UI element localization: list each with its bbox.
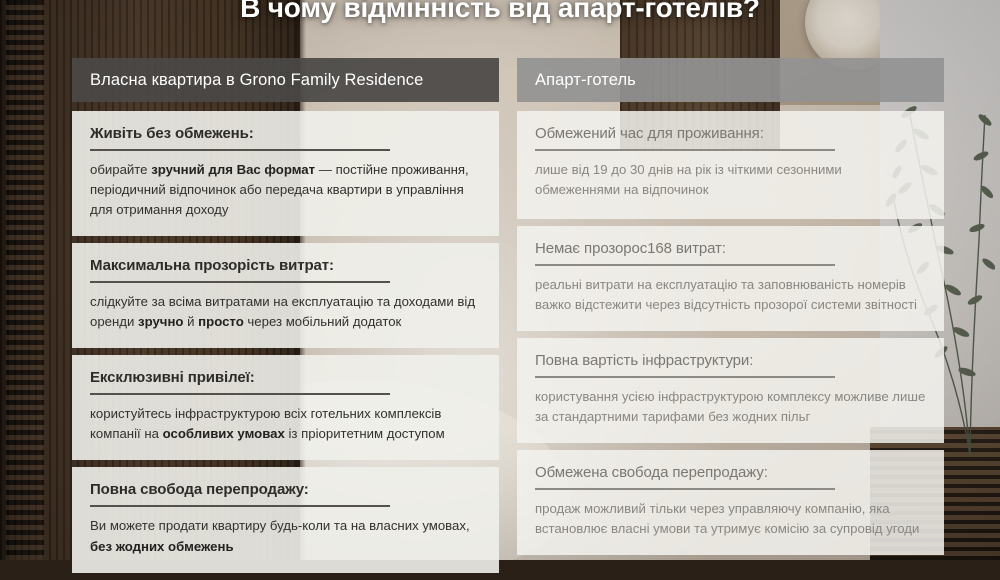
column-header-own-apartment: Власна квартира в Grono Family Residence bbox=[72, 58, 499, 102]
card-body: реальні витрати на експлуатацію та запов… bbox=[535, 275, 926, 315]
drawback-card-full-infrastructure-cost: Повна вартість інфраструктури: користува… bbox=[517, 338, 944, 443]
feature-card-live-without-limits: Живіть без обмежень: обирайте зручний дл… bbox=[72, 111, 499, 236]
card-body: слідкуйте за всіма витратами на експлуат… bbox=[90, 292, 481, 332]
card-title: Повна свобода перепродажу: bbox=[90, 481, 390, 507]
feature-card-exclusive-privileges: Ексклюзивні привілеї: користуйтесь інфра… bbox=[72, 355, 499, 460]
drawback-card-no-cost-transparency: Немає прозорос168 витрат: реальні витрат… bbox=[517, 226, 944, 331]
comparison-section: В чому відмінність від апарт-готелів? Вл… bbox=[0, 0, 1000, 560]
feature-card-maximum-cost-transparency: Максимальна прозорість витрат: слідкуйте… bbox=[72, 243, 499, 348]
card-title: Повна вартість інфраструктури: bbox=[535, 352, 835, 378]
card-title: Обмежений час для проживання: bbox=[535, 125, 835, 151]
page-title: В чому відмінність від апарт-готелів? bbox=[0, 0, 1000, 24]
card-body: Ви можете продати квартиру будь-коли та … bbox=[90, 516, 481, 556]
card-body: продаж можливий тільки через управляючу … bbox=[535, 499, 926, 539]
comparison-columns: Власна квартира в Grono Family Residence… bbox=[72, 58, 944, 580]
drawback-card-limited-stay-time: Обмежений час для проживання: лише від 1… bbox=[517, 111, 944, 219]
column-own-apartment: Власна квартира в Grono Family Residence… bbox=[72, 58, 499, 580]
drawback-card-limited-resale-freedom: Обмежена свобода перепродажу: продаж мож… bbox=[517, 450, 944, 555]
column-apart-hotel: Апарт-готель Обмежений час для проживанн… bbox=[517, 58, 944, 580]
card-title: Максимальна прозорість витрат: bbox=[90, 257, 390, 283]
card-body: користування усією інфраструктурою компл… bbox=[535, 387, 926, 427]
card-title: Обмежена свобода перепродажу: bbox=[535, 464, 835, 490]
card-body: користуйтесь інфраструктурою всіх готель… bbox=[90, 404, 481, 444]
card-title: Живіть без обмежень: bbox=[90, 125, 390, 151]
card-title: Немає прозорос168 витрат: bbox=[535, 240, 835, 266]
card-body: лише від 19 до 30 днів на рік із чіткими… bbox=[535, 160, 926, 200]
card-body: обирайте зручний для Вас формат — постій… bbox=[90, 160, 481, 220]
feature-card-full-resale-freedom: Повна свобода перепродажу: Ви можете про… bbox=[72, 467, 499, 572]
card-title: Ексклюзивні привілеї: bbox=[90, 369, 390, 395]
column-header-apart-hotel: Апарт-готель bbox=[517, 58, 944, 102]
